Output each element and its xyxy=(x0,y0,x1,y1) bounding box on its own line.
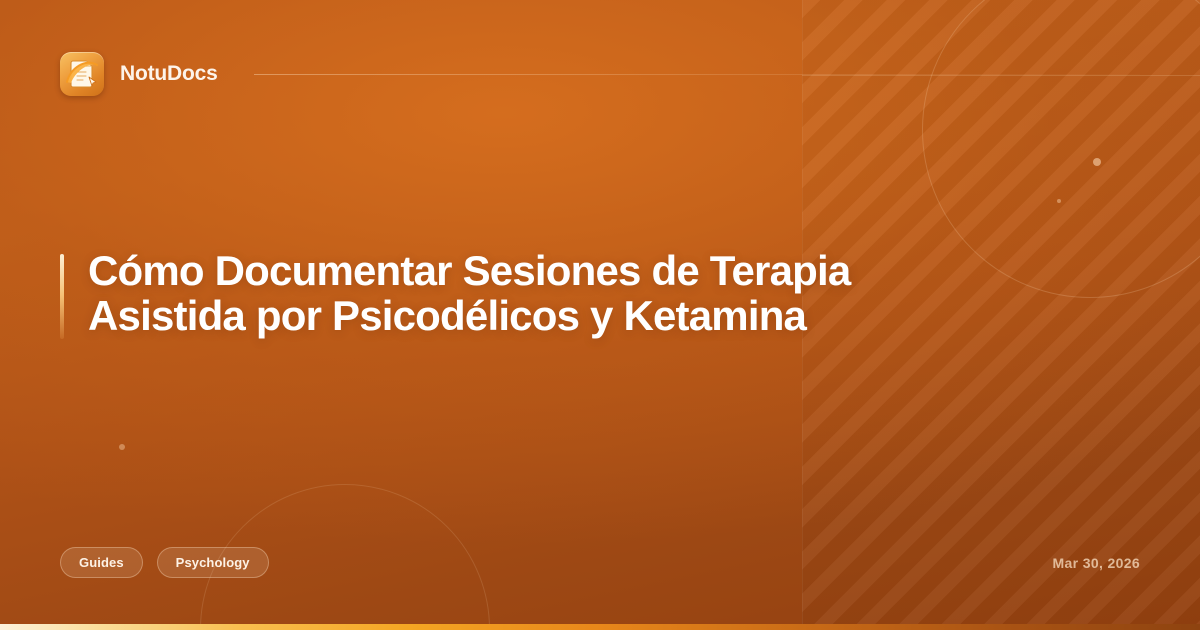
header-divider-rule xyxy=(254,74,1140,75)
article-og-banner: NotuDocs Cómo Documentar Sesiones de Ter… xyxy=(0,0,1200,630)
document-swoosh-icon xyxy=(60,52,104,96)
tag-pill-psychology[interactable]: Psychology xyxy=(157,547,269,578)
publish-date: Mar 30, 2026 xyxy=(1053,555,1140,571)
decorative-dot-small xyxy=(1057,199,1061,203)
tag-list: Guides Psychology xyxy=(60,547,269,578)
page-title: Cómo Documentar Sesiones de Terapia Asis… xyxy=(88,248,998,339)
decorative-dot-left xyxy=(119,444,125,450)
banner-footer: Guides Psychology Mar 30, 2026 xyxy=(60,547,1140,578)
tag-pill-guides[interactable]: Guides xyxy=(60,547,143,578)
bottom-accent-bar xyxy=(0,624,1200,630)
title-block: Cómo Documentar Sesiones de Terapia Asis… xyxy=(60,248,1020,339)
title-accent-bar xyxy=(60,254,64,339)
banner-header: NotuDocs xyxy=(60,52,1140,96)
decorative-dot-large xyxy=(1093,158,1101,166)
brand-name: NotuDocs xyxy=(120,62,218,86)
